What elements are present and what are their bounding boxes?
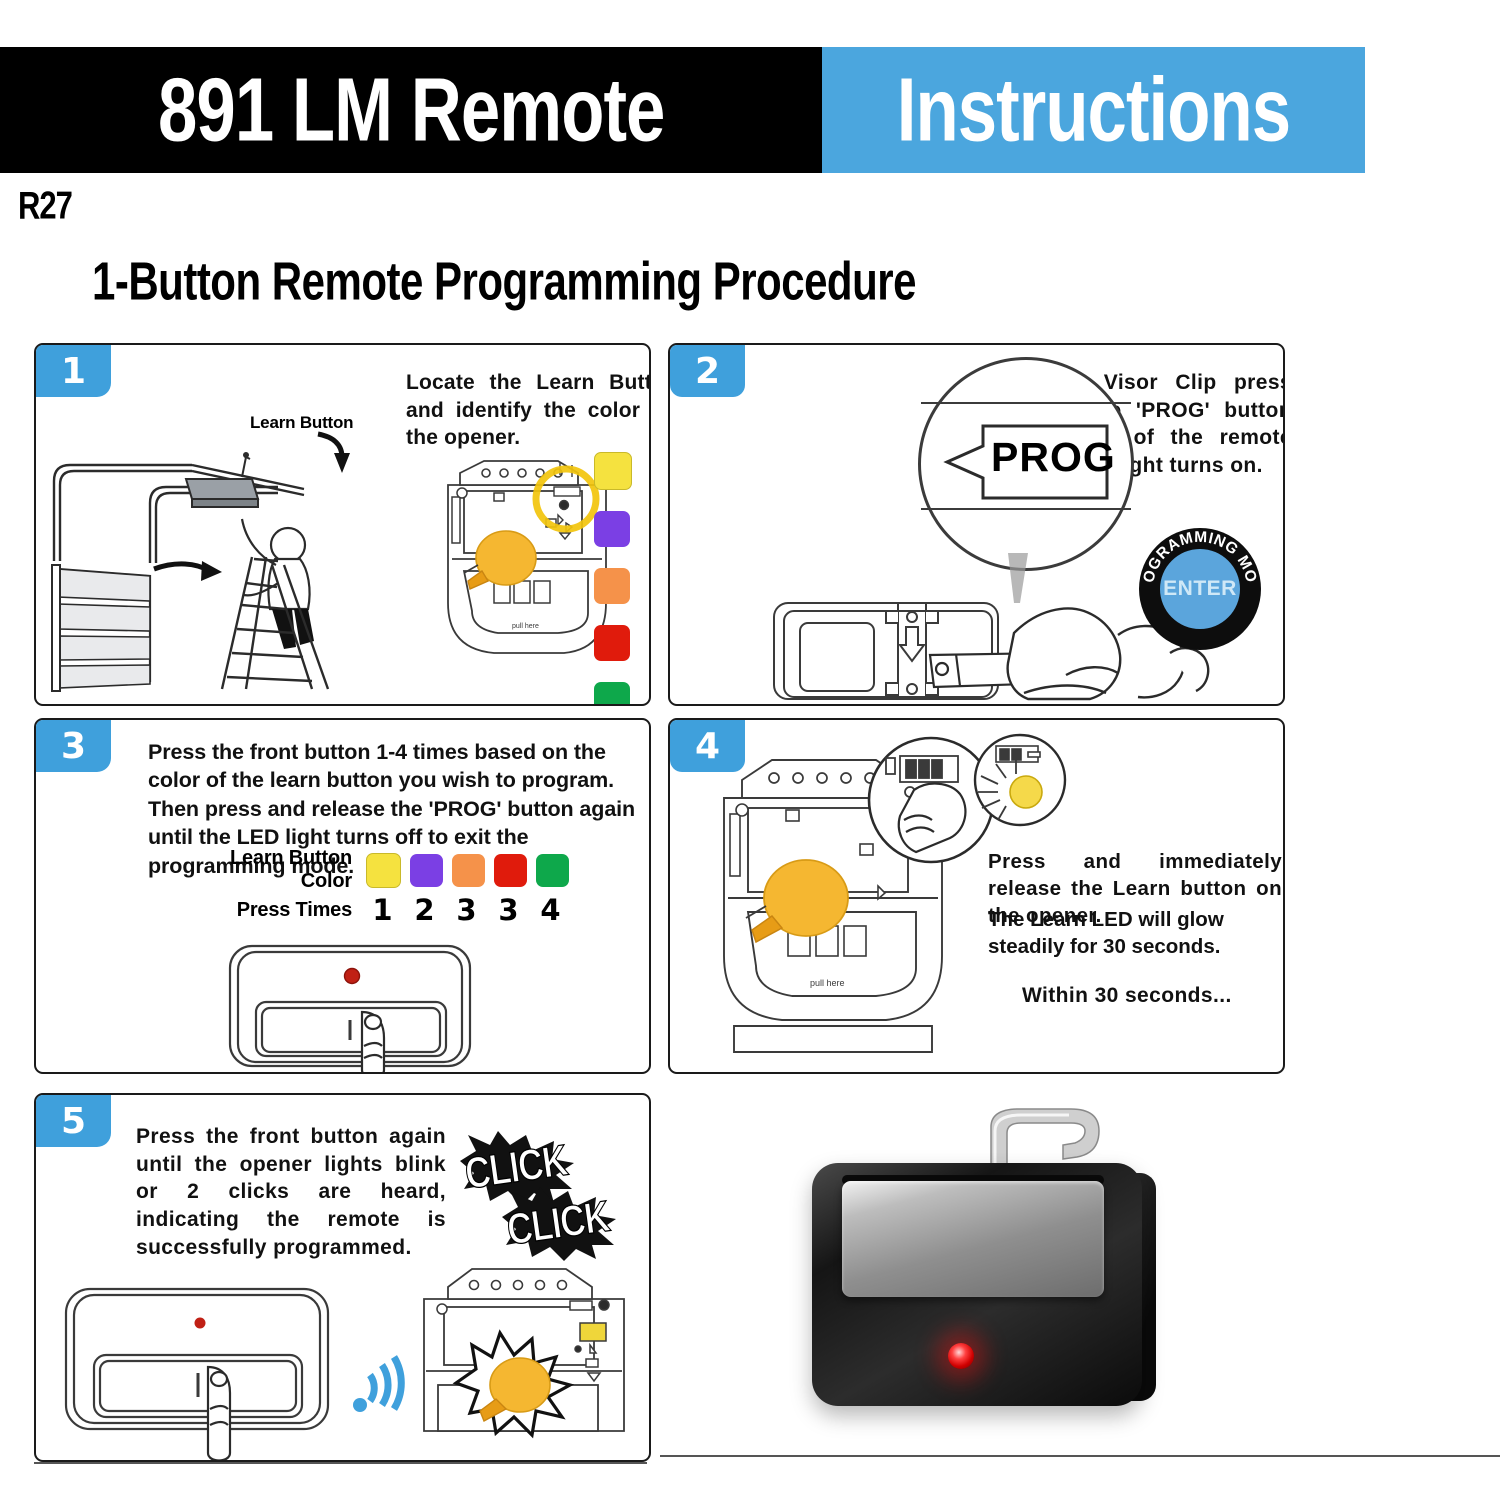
swatch-green — [536, 854, 569, 887]
header-title-model: 891 LM Remote — [158, 59, 664, 162]
enter-label: ENTER — [1163, 577, 1237, 601]
programming-mode-badge: PROGRAMMING MODE ENTER — [1139, 528, 1261, 650]
footer-divider-left — [34, 1462, 647, 1464]
swatch-orange — [594, 568, 630, 604]
signal-waves-icon — [352, 1353, 408, 1417]
step-panel-5: 5 Press the front button again until the… — [34, 1093, 651, 1462]
swatch-yellow — [366, 853, 401, 888]
color-press-table: Learn Button Color Press Times 1 2 3 3 4 — [174, 850, 578, 930]
footer-divider — [660, 1455, 1500, 1457]
remote-led-indicator — [195, 1318, 206, 1329]
swatch-red — [494, 854, 527, 887]
swatch-purple — [594, 511, 630, 547]
header-blue-section: Instructions — [822, 47, 1365, 173]
learn-button-color-label: Learn Button Color — [174, 847, 366, 893]
remote-led-indicator — [345, 969, 360, 984]
revision-label: R27 — [18, 184, 72, 229]
step-4-instruction-text-2: The Learn LED will glow steadily for 30 … — [988, 906, 1285, 960]
garage-door-scene-illustration — [46, 441, 436, 691]
svg-text:pull here: pull here — [810, 978, 845, 988]
opener-with-light-burst-illustration — [414, 1261, 634, 1457]
header-title-instructions: Instructions — [897, 59, 1290, 162]
prog-label: PROG — [991, 434, 1116, 481]
step-5-instruction-text: Press the front button again until the o… — [136, 1123, 446, 1262]
step-1-instruction-text: Locate the Learn Button and identify the… — [406, 369, 651, 452]
learn-button-color-strip — [594, 452, 632, 706]
learn-led-glow-detail — [972, 732, 1068, 828]
remote-push-button[interactable] — [842, 1181, 1104, 1297]
remote-front-with-finger-illustration — [222, 942, 484, 1072]
step-4-timer-note: Within 30 seconds... — [1022, 982, 1285, 1010]
opener-front-diagram: pull here — [438, 453, 616, 673]
press-times-value: 2 — [408, 893, 441, 927]
step-panel-3: 3 Press the front button 1-4 times based… — [34, 718, 651, 1074]
learn-button-color-row: Learn Button Color — [174, 850, 578, 890]
svg-text:pull here: pull here — [512, 623, 539, 630]
press-times-label: Press Times — [174, 899, 366, 922]
step-panel-4: 4 Press and immediately release the Lear… — [668, 718, 1285, 1074]
press-times-row: Press Times 1 2 3 3 4 — [174, 890, 578, 930]
press-times-value: 3 — [450, 893, 483, 927]
prog-button-magnifier: PROG — [918, 357, 1134, 571]
swatch-red — [594, 625, 630, 661]
red-led-indicator — [948, 1343, 974, 1369]
product-photo-891lm-remote — [700, 1085, 1300, 1475]
press-times-value: 4 — [534, 893, 567, 927]
step-panel-1: 1 Locate the Learn Button and identify t… — [34, 343, 651, 706]
press-times-value: 1 — [366, 893, 399, 927]
click-burst-2: CLICK — [498, 1187, 618, 1261]
press-times-value: 3 — [492, 893, 525, 927]
step-number-badge-1: 1 — [36, 345, 111, 397]
swatch-orange — [452, 854, 485, 887]
step-panel-2: 2 Using the Visor Clip press and hold th… — [668, 343, 1285, 706]
swatch-purple — [410, 854, 443, 887]
step-number-badge-3: 3 — [36, 720, 111, 772]
remote-front-with-finger-illustration — [58, 1285, 348, 1457]
swatch-yellow — [594, 452, 632, 490]
learn-button-callout-label: Learn Button — [250, 413, 353, 433]
step-number-badge-2: 2 — [670, 345, 745, 397]
step-number-badge-5: 5 — [36, 1095, 111, 1147]
swatch-green — [594, 682, 630, 706]
header-black-section: 891 LM Remote — [0, 47, 822, 173]
page-header: 891 LM Remote Instructions — [0, 47, 1365, 173]
page-title: 1-Button Remote Programming Procedure — [92, 251, 916, 312]
